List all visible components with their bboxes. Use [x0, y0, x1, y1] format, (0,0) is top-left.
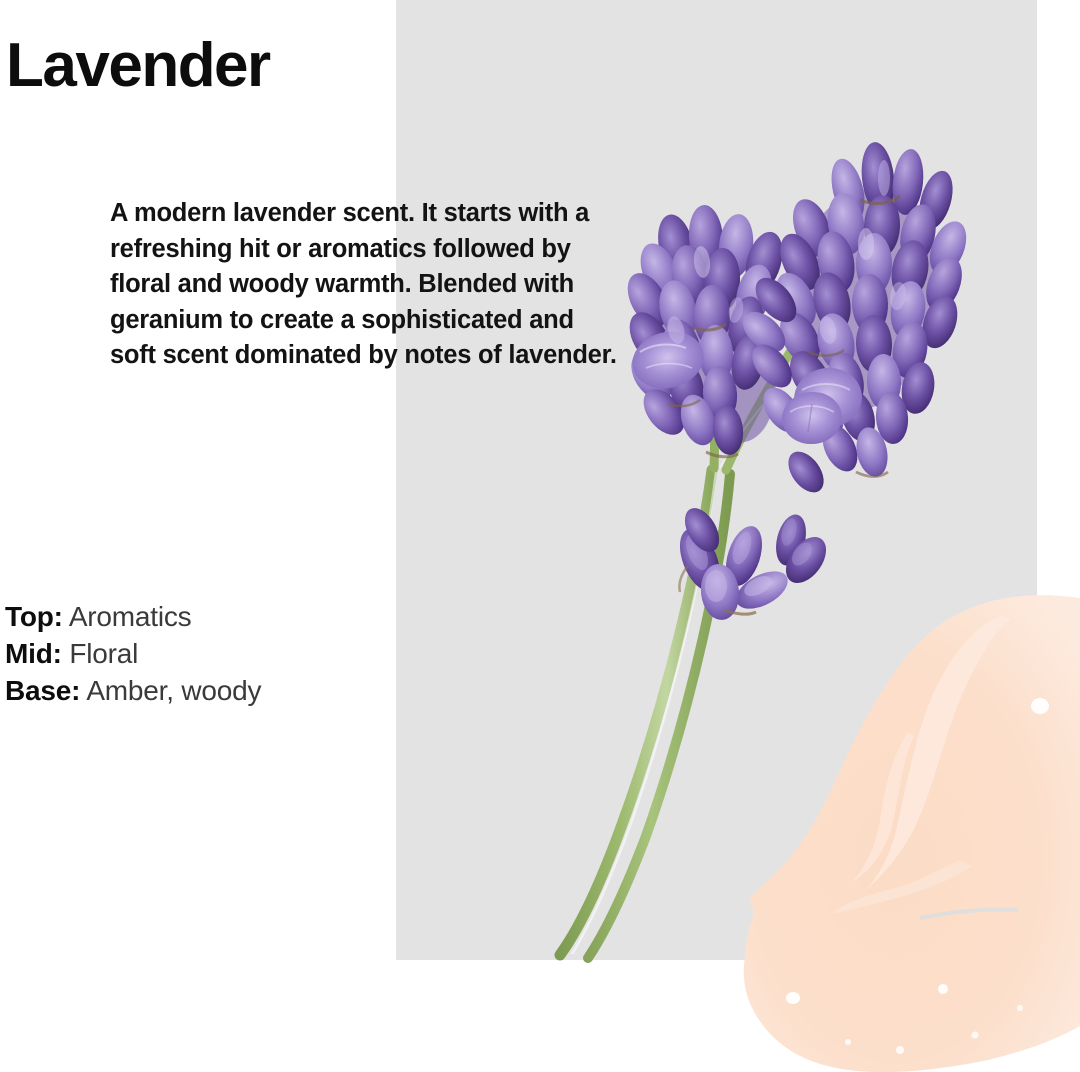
note-label-base: Base:	[5, 675, 80, 706]
note-label-top: Top:	[5, 601, 63, 632]
note-row-mid: Mid: Floral	[5, 635, 261, 672]
scent-notes-list: Top: Aromatics Mid: Floral Base: Amber, …	[5, 598, 261, 709]
note-value-mid: Floral	[69, 638, 138, 669]
product-card: Lavender A modern lavender scent. It sta…	[0, 0, 1080, 1072]
product-description: A modern lavender scent. It starts with …	[110, 196, 620, 374]
note-label-mid: Mid:	[5, 638, 62, 669]
note-value-base: Amber, woody	[86, 675, 261, 706]
note-value-top: Aromatics	[69, 601, 192, 632]
grey-backdrop-panel	[396, 0, 1037, 960]
note-row-base: Base: Amber, woody	[5, 672, 261, 709]
page-title: Lavender	[6, 33, 270, 98]
note-row-top: Top: Aromatics	[5, 598, 261, 635]
